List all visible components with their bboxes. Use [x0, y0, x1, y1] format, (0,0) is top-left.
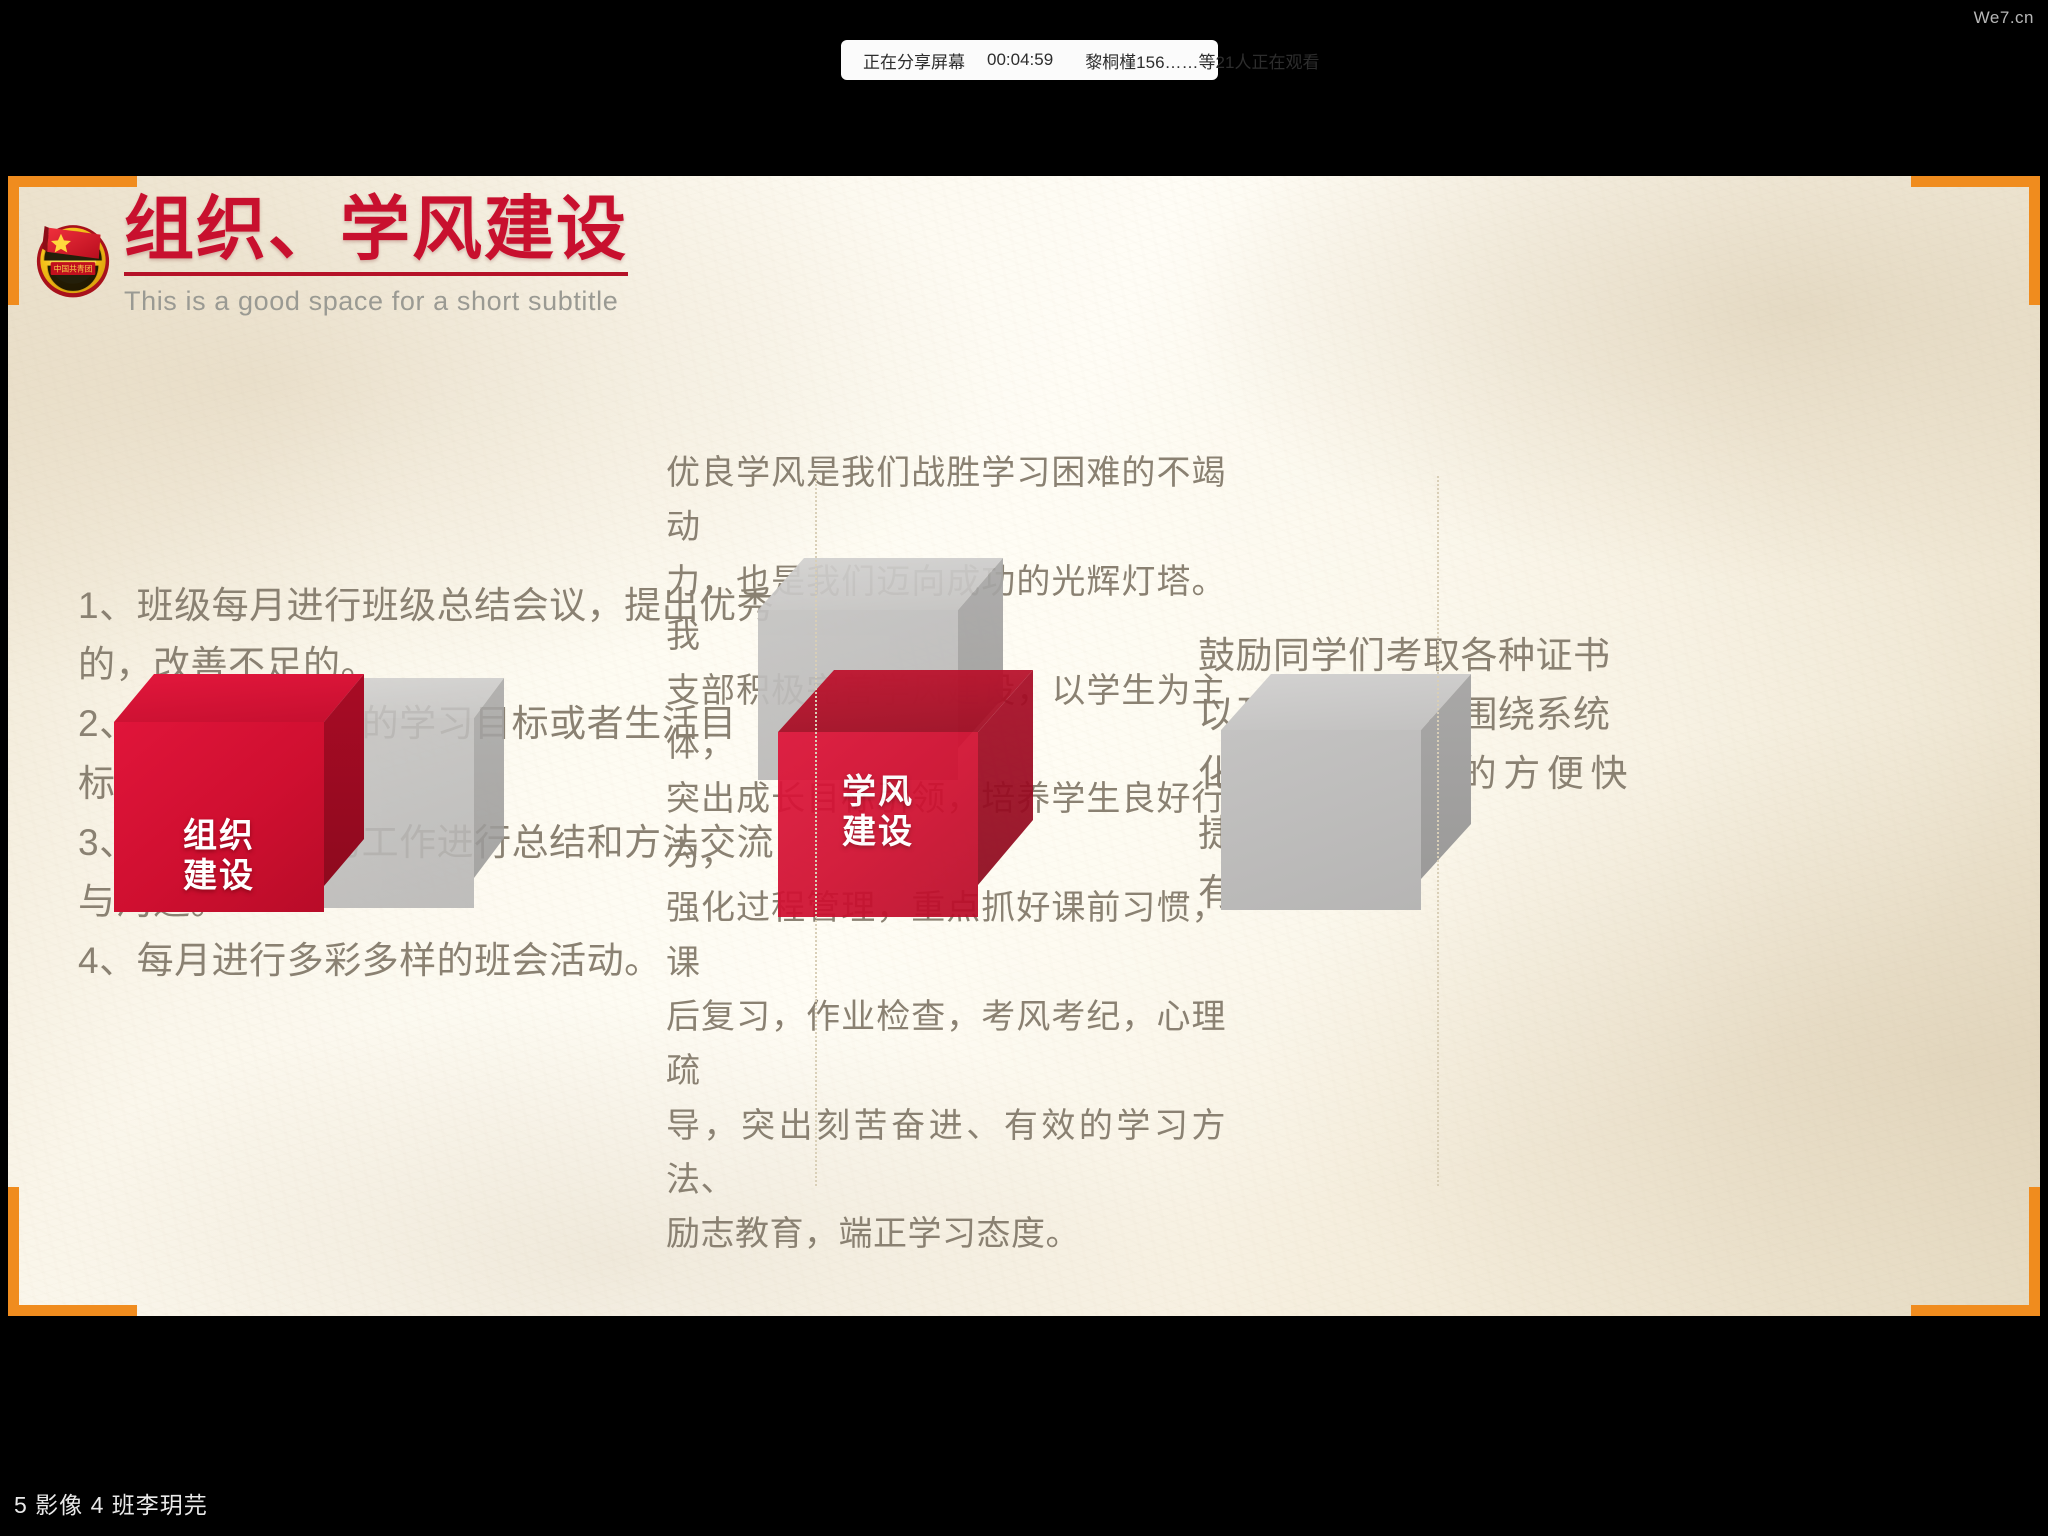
share-status-label: 正在分享屏幕 — [863, 48, 965, 73]
corner-bracket-top-left — [8, 176, 137, 305]
column-divider-1 — [815, 476, 817, 1186]
cube-group-study-style: 学风 建设 — [748, 552, 1068, 932]
presentation-slide: 中国共青团 组织、学风建设 This is a good space for a… — [8, 176, 2040, 1316]
screen-share-status-bar[interactable]: 正在分享屏幕 00:04:59 黎桐槿156……等21人正在观看 — [841, 40, 1218, 80]
study-style-line-1: 优良学风是我们战胜学习困难的不竭动 — [666, 446, 1226, 555]
presenter-label: 5 影像 4 班李玥芫 — [14, 1486, 208, 1520]
cube-group-organization: 组织 建设 — [104, 668, 564, 938]
study-style-line-8: 励志教育，端正学习态度。 — [666, 1207, 1226, 1261]
page-subtitle: This is a good space for a short subtitl… — [124, 286, 628, 317]
cube-group-certificates — [1213, 668, 1493, 948]
page-title: 组织、学风建设 — [124, 192, 628, 276]
bottom-bar: 5 影像 4 班李玥芫 — [0, 1316, 2048, 1536]
column-divider-2 — [1437, 476, 1439, 1186]
share-viewers-label: 黎桐槿156……等21人正在观看 — [1085, 48, 1319, 73]
corner-bracket-bottom-left — [8, 1187, 137, 1316]
watermark: We7.cn — [1974, 8, 2034, 28]
study-style-line-7: 导，突出刻苦奋进、有效的学习方法、 — [666, 1099, 1226, 1208]
cube-label-study-style: 学风 建设 — [778, 772, 978, 852]
share-timer: 00:04:59 — [987, 50, 1053, 70]
study-style-line-6: 后复习，作业检查，考风考纪，心理疏 — [666, 990, 1226, 1099]
screen-capture: We7.cn 正在分享屏幕 00:04:59 黎桐槿156……等21人正在观看 — [0, 0, 2048, 1536]
corner-bracket-bottom-right — [1911, 1187, 2040, 1316]
cube-label-organization: 组织 建设 — [114, 816, 324, 896]
corner-bracket-top-right — [1911, 176, 2040, 305]
